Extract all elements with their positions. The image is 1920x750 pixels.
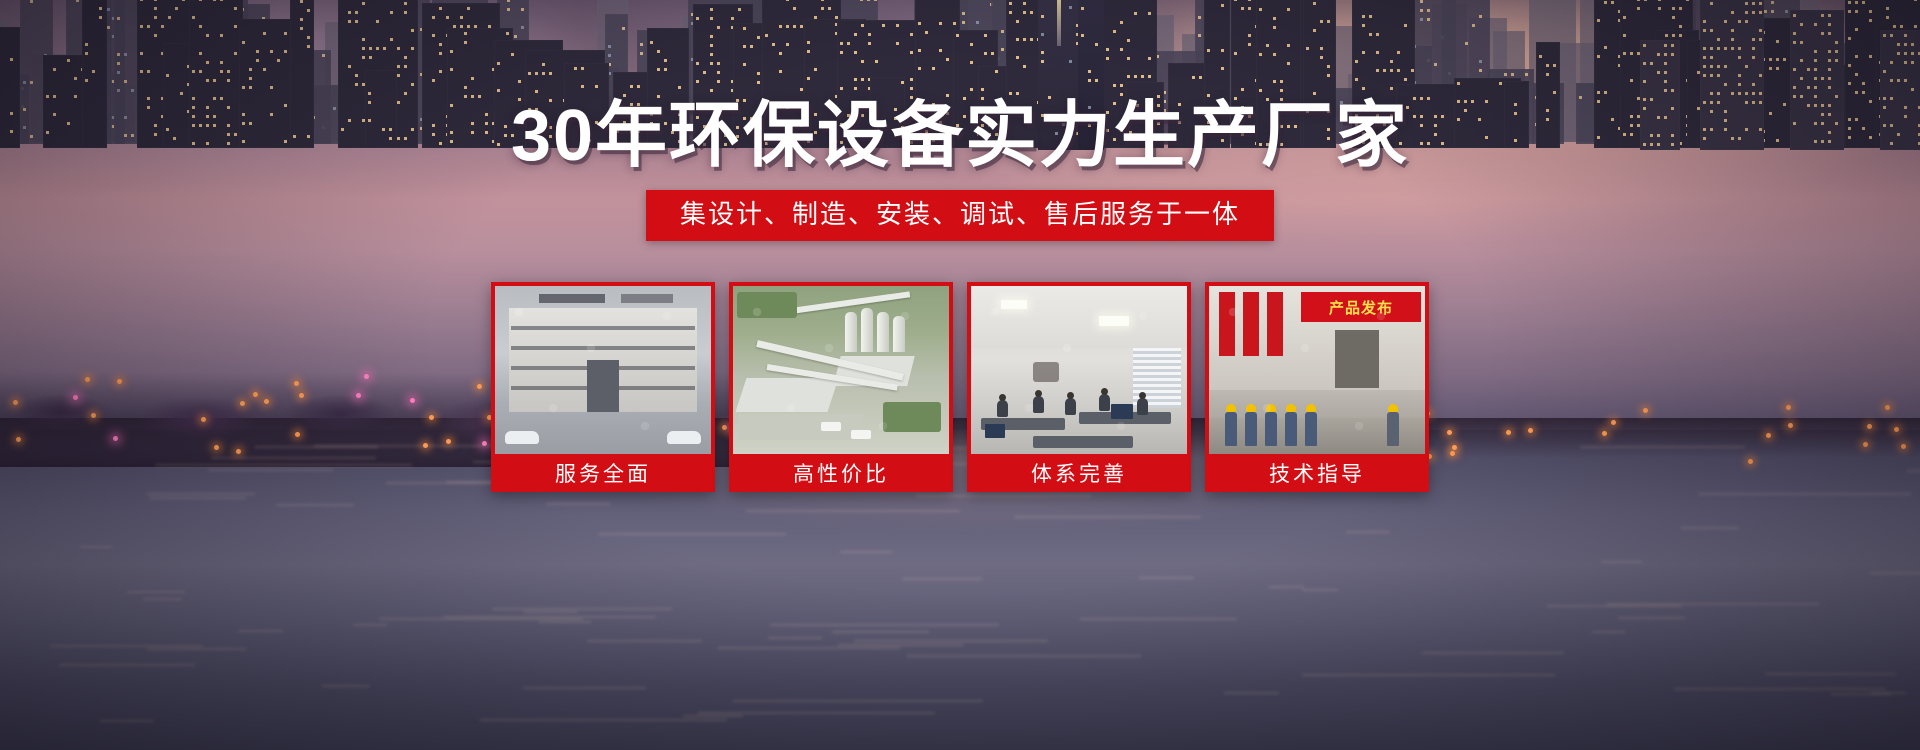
feature-card-list: 服务全面	[491, 282, 1429, 492]
building-phone-sign	[621, 294, 673, 303]
hero-banner: 30年环保设备实力生产厂家 集设计、制造、安装、调试、售后服务于一体	[0, 0, 1920, 750]
worker	[1245, 412, 1257, 446]
vegetation	[883, 402, 941, 432]
worker	[1285, 412, 1297, 446]
worker	[1225, 412, 1237, 446]
ceiling-light	[1001, 300, 1027, 309]
computer-monitor	[985, 424, 1005, 438]
workshop-gate	[1335, 330, 1379, 388]
workshop-banner-text: 产品发布	[1301, 292, 1421, 322]
vegetation	[737, 292, 797, 318]
truck	[821, 422, 841, 431]
office-desk	[1033, 436, 1133, 448]
truck	[851, 430, 871, 439]
wall-decal	[1033, 362, 1059, 382]
computer-monitor	[1111, 404, 1133, 419]
feature-card[interactable]: 高性价比	[729, 282, 953, 492]
parked-car	[505, 431, 539, 444]
storage-silo	[861, 308, 873, 352]
worker	[1265, 412, 1277, 446]
office-worker	[1065, 398, 1076, 415]
building-entrance	[587, 360, 619, 412]
aerial-factory-plant-photo	[733, 286, 949, 454]
ceiling-light	[1099, 316, 1129, 326]
feature-card[interactable]: 服务全面	[491, 282, 715, 492]
banner-headline: 30年环保设备实力生产厂家	[0, 100, 1920, 172]
conveyor-belt	[791, 291, 911, 314]
company-building-staff-photo	[495, 286, 711, 454]
feature-card[interactable]: 产品发布 技术指导	[1205, 282, 1429, 492]
office-interior-team-photo	[971, 286, 1187, 454]
office-worker	[997, 400, 1008, 417]
office-worker	[1099, 394, 1110, 411]
plant-roof	[735, 378, 838, 412]
office-worker	[1033, 396, 1044, 413]
feature-card-label: 服务全面	[495, 454, 711, 492]
building-sign	[539, 294, 605, 303]
banner-subtitle-bar: 集设计、制造、安装、调试、售后服务于一体	[646, 190, 1274, 241]
feature-card-label: 体系完善	[971, 454, 1187, 492]
office-ceiling	[971, 286, 1187, 348]
vertical-banner	[1219, 292, 1235, 356]
parked-car	[667, 431, 701, 444]
storage-silo	[845, 312, 857, 352]
feature-card-label: 高性价比	[733, 454, 949, 492]
feature-card[interactable]: 体系完善	[967, 282, 1191, 492]
vertical-banner	[1267, 292, 1283, 356]
storage-silo	[877, 312, 889, 352]
office-worker	[1137, 398, 1148, 415]
feature-card-label: 技术指导	[1209, 454, 1425, 492]
vertical-banner	[1243, 292, 1259, 356]
workshop-red-banner: 产品发布	[1301, 292, 1421, 322]
workshop-workers-photo: 产品发布	[1209, 286, 1425, 454]
worker	[1387, 412, 1399, 446]
storage-silo	[893, 316, 905, 352]
worker	[1305, 412, 1317, 446]
banner-content: 30年环保设备实力生产厂家 集设计、制造、安装、调试、售后服务于一体	[0, 0, 1920, 750]
plant-yard	[739, 414, 863, 440]
